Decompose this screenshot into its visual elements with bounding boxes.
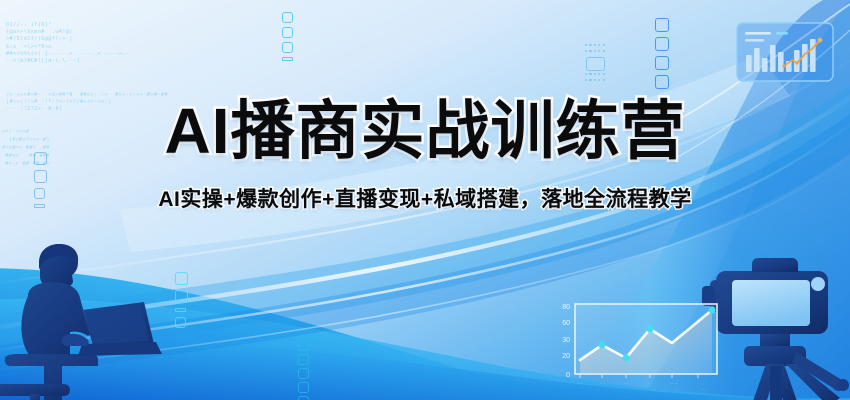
y-tick-60: 60: [562, 320, 570, 327]
chip-pins-top2: [585, 50, 605, 52]
deco-squares-topright: [655, 18, 669, 89]
deco-square-icon: [655, 18, 669, 32]
deco-squares-midleft: [175, 272, 188, 328]
chip-pins-bottom: [585, 73, 605, 75]
deco-square-icon: [655, 56, 669, 70]
deco-squares-top: [282, 12, 293, 61]
processor-chip-icon: [578, 42, 612, 84]
deco-bar-icon: [175, 308, 186, 312]
deco-squares-bottom: [298, 340, 309, 400]
data-point-marker: [646, 325, 653, 332]
deco-square-icon: [282, 12, 293, 23]
dashboard-svg: [736, 22, 834, 82]
x-tick-sublabel: -- --: [675, 387, 680, 391]
deco-square-icon: [298, 396, 309, 400]
page-title: AI播商实战训练营: [0, 96, 850, 166]
deco-square-icon: [298, 354, 309, 365]
data-point-marker: [622, 354, 629, 361]
x-tick-sublabel: -- --: [701, 387, 706, 391]
deco-square-icon: [298, 368, 309, 379]
x-tick-sublabel: -- --: [650, 387, 655, 391]
x-tick-label: -- --: [648, 381, 653, 385]
deco-square-icon: [298, 340, 309, 351]
y-tick-80: 80: [562, 304, 570, 311]
x-tick-label: -- --: [600, 381, 605, 385]
chip-pins-bottom2: [585, 79, 605, 81]
x-tick-label: -- --: [577, 381, 582, 385]
person-at-laptop-silhouette: [0, 244, 166, 400]
y-tick-20: 20: [562, 353, 570, 360]
page-subtitle: AI实操+爆款创作+直播变现+私域搭建，落地全流程教学: [0, 186, 850, 214]
data-point-marker: [598, 341, 605, 348]
chip-pins-top: [585, 44, 605, 46]
deco-square-icon: [175, 290, 188, 303]
trend-line-chart: 80 60 30 20 0: [548, 298, 726, 396]
x-tick-label: --- --: [671, 381, 678, 385]
y-tick-0: 0: [566, 372, 570, 379]
deco-square-icon: [175, 272, 188, 285]
chip-core: [586, 57, 605, 71]
deco-square-icon: [282, 42, 293, 53]
deco-square-icon: [298, 382, 309, 393]
x-tick-label: -- --: [623, 381, 628, 385]
deco-square-icon: [655, 37, 669, 51]
deco-square-icon: [282, 27, 293, 38]
deco-square-icon: [655, 75, 669, 89]
course-banner: 01//-- if{0}" {@a>>\$nmn# .w4!@( >#(5(d2…: [0, 0, 850, 400]
analytics-dashboard-icon: [736, 22, 834, 82]
line-chart-svg: 80 60 30 20 0: [548, 298, 726, 396]
data-point-marker: [708, 306, 715, 313]
x-tick-label: -- --: [699, 381, 704, 385]
y-tick-30: 30: [562, 337, 570, 344]
deco-square-icon: [175, 317, 186, 328]
deco-square-icon: [34, 170, 47, 183]
person-svg: [0, 244, 166, 400]
deco-bar-icon: [282, 57, 293, 61]
